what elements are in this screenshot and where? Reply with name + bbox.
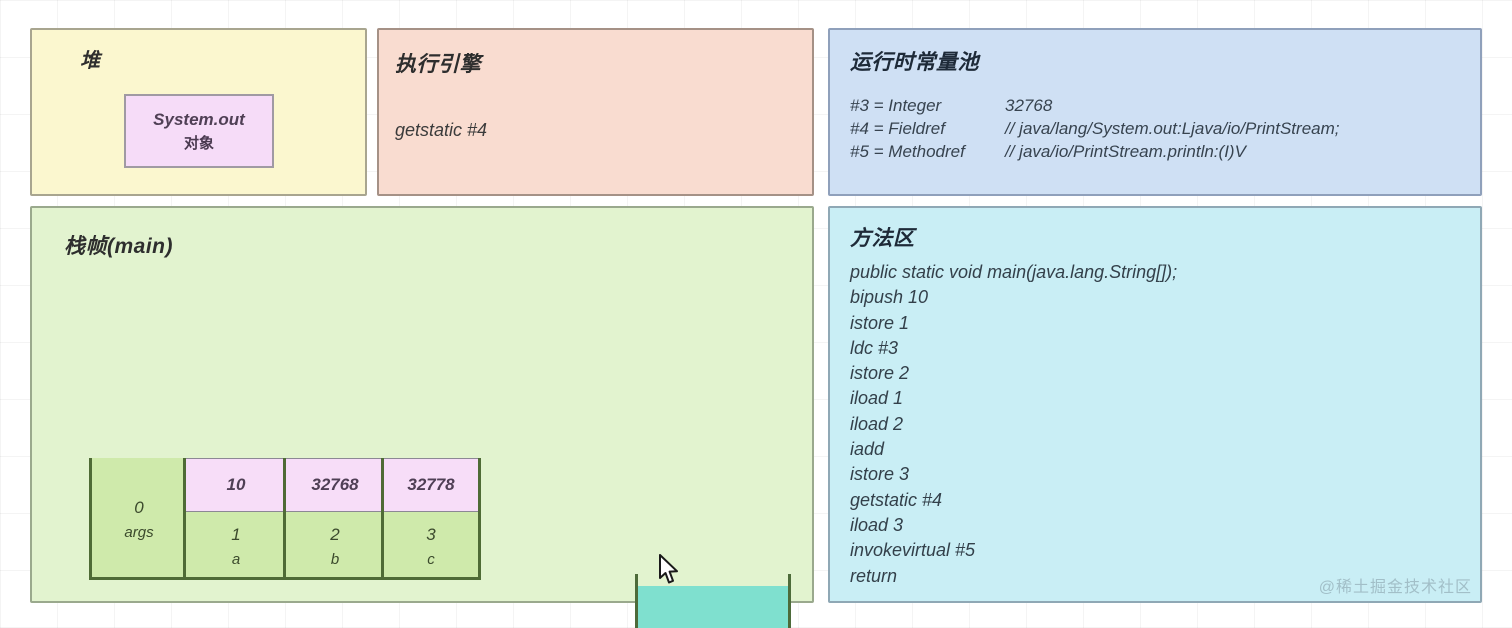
bytecode-line: public static void main(java.lang.String… (850, 260, 1177, 285)
local-variable-table-rail (478, 458, 481, 580)
constant-pool-entry-value: 32768 (1005, 94, 1052, 117)
constant-pool-entry-value: // java/lang/System.out:Ljava/io/PrintSt… (1005, 117, 1340, 140)
method-area-panel: 方法区 public static void main(java.lang.St… (828, 206, 1482, 603)
local-variable-index: 0 (134, 498, 143, 518)
local-variable-table-rail (381, 458, 384, 580)
constant-pool-entries: #3 = Integer32768#4 = Fieldref// java/la… (850, 94, 1340, 163)
bytecode-line: ldc #3 (850, 336, 1177, 361)
heap-object-label-line2: 对象 (184, 132, 214, 153)
bytecode-line: iload 2 (850, 412, 1177, 437)
current-instruction: getstatic #4 (395, 120, 487, 141)
operand-stack-fill (638, 586, 788, 628)
bytecode-line: istore 1 (850, 311, 1177, 336)
local-variable-index: 3 (426, 525, 435, 545)
local-variable-table-rail (183, 458, 186, 580)
local-variable-slot: 327783c (384, 458, 478, 580)
stack-frame-panel: 栈帧(main) 0args101a327682b327783c System.… (30, 206, 814, 603)
local-variable-name: b (331, 551, 339, 568)
bytecode-line: getstatic #4 (850, 488, 1177, 513)
bytecode-line: iadd (850, 437, 1177, 462)
local-variable-name: a (232, 551, 240, 568)
heap-system-out-object: System.out 对象 (124, 94, 274, 168)
bytecode-line: iload 3 (850, 513, 1177, 538)
local-variable-value: 10 (186, 458, 286, 512)
constant-pool-row: #5 = Methodref// java/io/PrintStream.pri… (850, 140, 1340, 163)
local-variable-index: 1 (231, 525, 240, 545)
constant-pool-entry-key: #3 = Integer (850, 94, 1005, 117)
bytecode-line: iload 1 (850, 386, 1177, 411)
local-variable-slot: 101a (186, 458, 286, 580)
bytecode-line: istore 2 (850, 361, 1177, 386)
constant-pool-row: #3 = Integer32768 (850, 94, 1340, 117)
watermark: @稀土掘金技术社区 (1319, 573, 1472, 597)
method-area-title: 方法区 (850, 222, 915, 252)
operand-stack-left-rail (635, 574, 638, 628)
heap-panel: 堆 System.out 对象 (30, 28, 367, 196)
local-variable-value: 32778 (384, 458, 478, 512)
local-variable-table-rail (89, 458, 92, 580)
local-variable-table: 0args101a327682b327783c (89, 458, 481, 580)
execution-engine-title: 执行引擎 (395, 48, 481, 78)
local-variable-name: c (427, 551, 435, 568)
local-variable-table-rail (283, 458, 286, 580)
local-variable-slot-info: 2b (286, 512, 384, 580)
local-variable-slot: 0args (92, 458, 186, 580)
runtime-constant-pool-title: 运行时常量池 (850, 46, 979, 76)
operand-stack-right-rail (788, 574, 791, 628)
operand-stack: System.out 引用 (635, 574, 791, 628)
stack-frame-title: 栈帧(main) (64, 230, 173, 260)
bytecode-line: return (850, 564, 1177, 589)
constant-pool-row: #4 = Fieldref// java/lang/System.out:Lja… (850, 117, 1340, 140)
method-area-bytecode-listing: public static void main(java.lang.String… (850, 260, 1177, 589)
constant-pool-entry-key: #5 = Methodref (850, 140, 1005, 163)
execution-engine-panel: 执行引擎 getstatic #4 (377, 28, 814, 196)
diagram-canvas: 堆 System.out 对象 执行引擎 getstatic #4 运行时常量池… (0, 0, 1512, 628)
local-variable-value: 32768 (286, 458, 384, 512)
bytecode-line: istore 3 (850, 462, 1177, 487)
local-variable-slot-info: 1a (186, 512, 286, 580)
local-variable-slot-info: 3c (384, 512, 478, 580)
heap-object-label-line1: System.out (153, 110, 245, 130)
heap-title: 堆 (80, 44, 101, 73)
bytecode-line: invokevirtual #5 (850, 538, 1177, 563)
local-variable-table-bottom-rail (89, 577, 481, 580)
constant-pool-entry-key: #4 = Fieldref (850, 117, 1005, 140)
local-variable-slot: 327682b (286, 458, 384, 580)
local-variable-slot-info: 0args (92, 458, 186, 580)
local-variable-index: 2 (330, 525, 339, 545)
constant-pool-entry-value: // java/io/PrintStream.println:(I)V (1005, 140, 1246, 163)
runtime-constant-pool-panel: 运行时常量池 #3 = Integer32768#4 = Fieldref// … (828, 28, 1482, 196)
bytecode-line: bipush 10 (850, 285, 1177, 310)
local-variable-name: args (124, 524, 153, 541)
